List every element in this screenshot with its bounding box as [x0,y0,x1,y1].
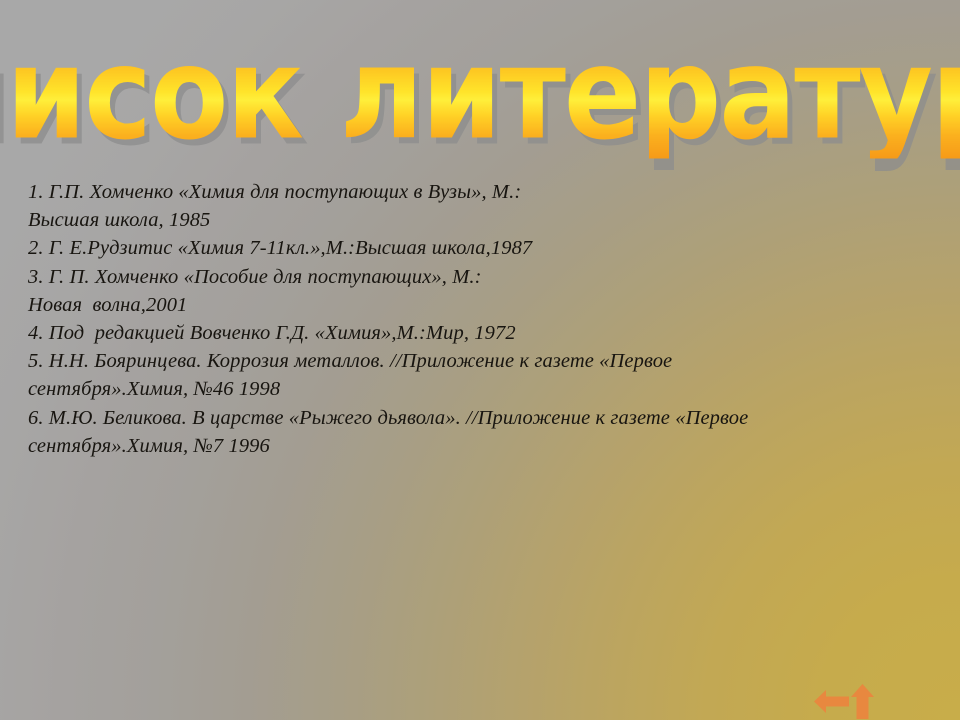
reference-line: 1. Г.П. Хомченко «Химия для поступающих … [28,178,932,206]
left-arrow-icon[interactable] [814,690,849,713]
title-fill-layer: Список литературы [0,30,960,160]
reference-line: сентября».Химия, №46 1998 [28,375,932,403]
reference-list: 1. Г.П. Хомченко «Химия для поступающих … [28,178,932,460]
reference-line: 2. Г. Е.Рудзитис «Химия 7-11кл.»,М.:Высш… [28,234,932,262]
reference-line: сентября».Химия, №7 1996 [28,432,932,460]
reference-line: 5. Н.Н. Бояринцева. Коррозия металлов. /… [28,347,932,375]
up-arrow-icon[interactable] [851,684,874,719]
page-title: Список литературы [0,31,960,158]
reference-line: Новая волна,2001 [28,291,932,319]
reference-line: 4. Под редакцией Вовченко Г.Д. «Химия»,М… [28,319,932,347]
slide-title-wordart: Список литературы Список литературы [0,30,960,160]
reference-line: Высшая школа, 1985 [28,206,932,234]
home-arrow-button[interactable] [851,684,874,719]
back-arrow-button[interactable] [814,690,849,713]
reference-line: 6. М.Ю. Беликова. В царстве «Рыжего дьяв… [28,404,932,432]
slide-navigation [812,682,892,720]
reference-line: 3. Г. П. Хомченко «Пособие для поступающ… [28,263,932,291]
presentation-slide: Список литературы Список литературы 1. Г… [0,0,960,720]
